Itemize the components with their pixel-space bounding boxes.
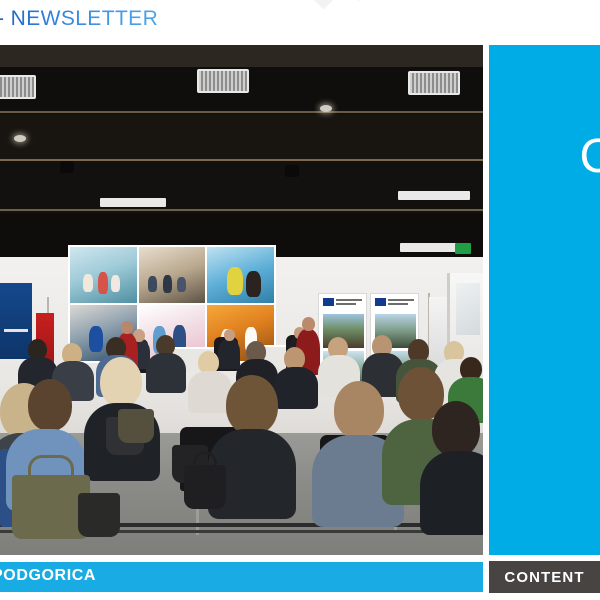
ceiling-vent-icon: [197, 69, 249, 93]
floor-bag: [78, 493, 120, 537]
title-line-2: Cooperation: [579, 133, 600, 181]
exit-sign-icon: [455, 243, 471, 254]
door-pane: [456, 283, 480, 335]
audience-head: [432, 401, 480, 457]
audience-body: [146, 353, 186, 393]
screen-tile: [70, 247, 137, 303]
newsletter-title-panel: EU Cooperation Newsletter of Montenegro …: [489, 45, 600, 555]
page-header: - NEWSLETTER: [0, 0, 600, 44]
speaker-head: [302, 317, 315, 331]
panelist-body: [218, 339, 240, 369]
content-badge[interactable]: CONTENT: [489, 561, 600, 593]
ceiling-slab: [0, 115, 483, 161]
ceiling-slab: [0, 45, 483, 67]
ceiling-sign: [100, 198, 166, 207]
conference-photo: [0, 45, 483, 555]
page-title: - NEWSLETTER: [0, 7, 158, 31]
banner-line: [336, 299, 362, 301]
panelist-head: [224, 329, 235, 341]
audience-body: [274, 367, 318, 409]
floor-bag: [184, 465, 226, 509]
floor-bag: [118, 409, 154, 443]
audience-head: [226, 375, 278, 435]
ceiling-spotlight-icon: [320, 105, 332, 112]
ceiling-spotlight-icon: [14, 135, 26, 142]
audience-head: [100, 357, 142, 407]
screen-tile: [207, 247, 274, 303]
content-badge-label: CONTENT: [504, 569, 584, 586]
audience-body: [420, 451, 483, 535]
ceiling-vent-icon: [0, 75, 36, 99]
banner-line: [388, 299, 414, 301]
location-label: PODGORICA: [0, 567, 96, 585]
eu-flag-icon: [375, 298, 386, 306]
audience-head: [28, 379, 72, 431]
ceiling-sign: [398, 191, 470, 200]
eu-flag-icon: [323, 298, 334, 306]
banner-line: [336, 303, 356, 305]
ceiling-camera-icon: [285, 165, 299, 177]
audience-head: [334, 381, 384, 439]
ceiling-camera-icon: [60, 161, 74, 173]
ceiling-vent-icon: [408, 71, 460, 95]
banner-line: [388, 303, 408, 305]
photo-scene: [0, 45, 483, 555]
screen-tile: [139, 247, 206, 303]
speaker-head: [121, 321, 133, 334]
location-bar: PODGORICA: [0, 562, 483, 592]
